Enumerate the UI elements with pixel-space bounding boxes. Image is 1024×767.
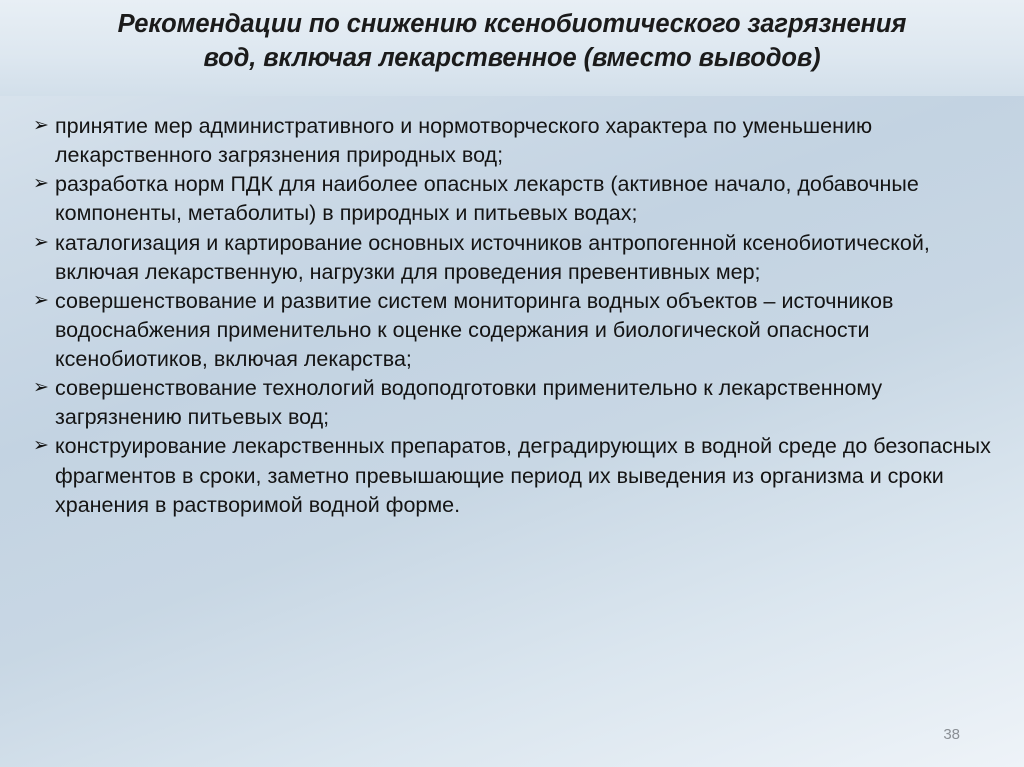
- list-item-text: конструирование лекарственных препаратов…: [55, 432, 996, 519]
- list-item-text: совершенствование технологий водоподгото…: [55, 374, 996, 432]
- list-item: ➢ совершенствование технологий водоподго…: [33, 374, 996, 432]
- list-item-text: разработка норм ПДК для наиболее опасных…: [55, 170, 996, 228]
- page-number: 38: [943, 726, 960, 743]
- list-item-text: каталогизация и картирование основных ис…: [55, 229, 996, 287]
- title-line-2: вод, включая лекарственное (вместо вывод…: [24, 42, 1000, 76]
- list-item: ➢ каталогизация и картирование основных …: [33, 229, 996, 287]
- list-item-text: совершенствование и развитие систем мони…: [55, 287, 996, 374]
- list-item: ➢ совершенствование и развитие систем мо…: [33, 287, 996, 374]
- list-item: ➢ разработка норм ПДК для наиболее опасн…: [33, 170, 996, 228]
- bullet-arrow-icon: ➢: [33, 288, 49, 314]
- page-title: Рекомендации по снижению ксенобиотическо…: [24, 8, 1000, 75]
- title-line-1: Рекомендации по снижению ксенобиотическо…: [24, 8, 1000, 42]
- list-item-text: принятие мер административного и нормотв…: [55, 112, 996, 170]
- bullet-arrow-icon: ➢: [33, 375, 49, 401]
- list-item: ➢ конструирование лекарственных препарат…: [33, 432, 996, 519]
- bullet-list: ➢ принятие мер административного и нормо…: [33, 112, 996, 520]
- bullet-arrow-icon: ➢: [33, 113, 49, 139]
- bullet-arrow-icon: ➢: [33, 171, 49, 197]
- bullet-arrow-icon: ➢: [33, 230, 49, 256]
- list-item: ➢ принятие мер административного и нормо…: [33, 112, 996, 170]
- slide: Рекомендации по снижению ксенобиотическо…: [0, 0, 1024, 767]
- bullet-arrow-icon: ➢: [33, 433, 49, 459]
